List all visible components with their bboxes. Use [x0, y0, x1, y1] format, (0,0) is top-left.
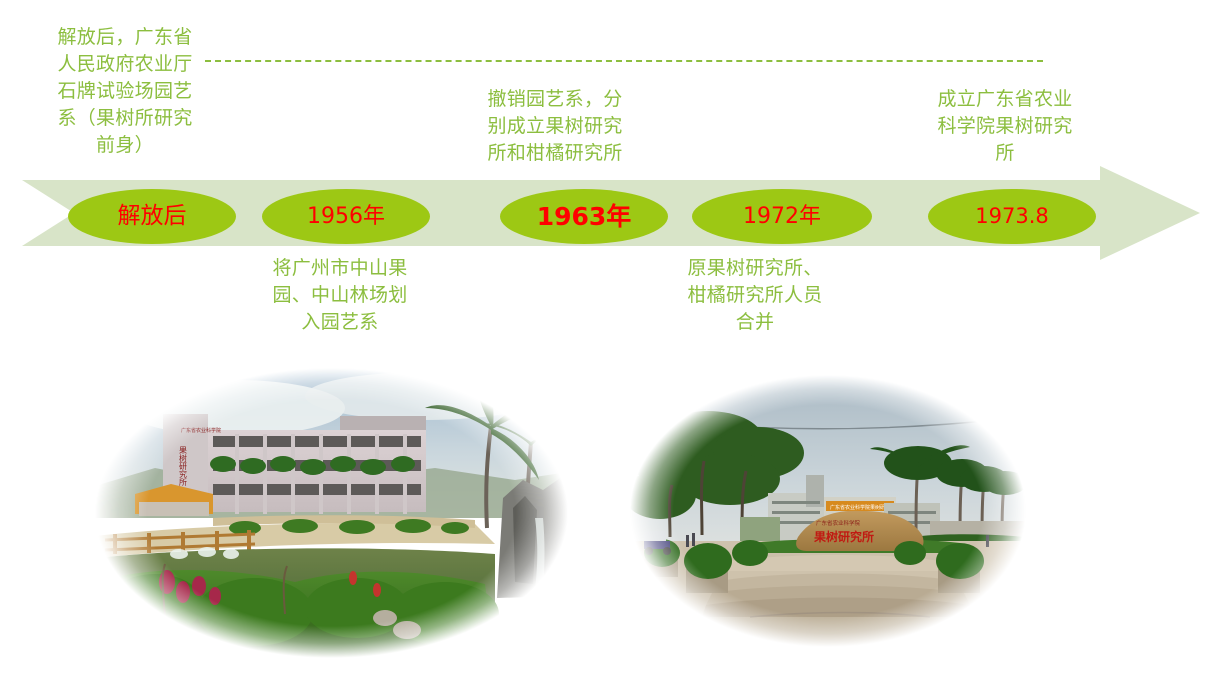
svg-text:广东省农业科学院: 广东省农业科学院 [816, 519, 861, 527]
timeline-note-above-3: 成立广东省农业 科学院果树研究 所 [905, 86, 1105, 167]
dashed-connector-line [205, 60, 1043, 62]
milestone-label-3: 1963年 [537, 204, 632, 229]
timeline-note-below-2: 原果树研究所、 柑橘研究所人员 合并 [655, 255, 855, 336]
svg-text:果树研究所: 果树研究所 [179, 446, 188, 487]
milestone-label-5: 1973.8 [975, 206, 1048, 227]
timeline-note-above-1: 解放后，广东省 人民政府农业厅 石牌试验场园艺 系（果树所研究 前身） [22, 24, 228, 159]
svg-text:果树研究所: 果树研究所 [813, 529, 874, 544]
milestone-label-1: 解放后 [118, 205, 187, 228]
milestone-label-2: 1956年 [307, 206, 385, 228]
timeline-note-above-2: 撤销园艺系，分 别成立果树研究 所和柑橘研究所 [455, 86, 655, 167]
milestone-pill-5[interactable]: 1973.8 [928, 189, 1096, 244]
institute-entrance-monument-photo: 广东省农业科学院果树研究所 [630, 375, 1026, 647]
milestone-pill-3[interactable]: 1963年 [500, 189, 668, 244]
timeline-note-below-1: 将广州市中山果 园、中山林场划 入园艺系 [240, 255, 440, 336]
milestone-label-4: 1972年 [743, 206, 821, 228]
milestone-pill-2[interactable]: 1956年 [262, 189, 430, 244]
institute-building-pond-photo: 广东省农业科学院 果树研究所 [95, 368, 568, 658]
milestone-pill-4[interactable]: 1972年 [692, 189, 872, 244]
svg-text:广东省农业科学院: 广东省农业科学院 [181, 427, 221, 434]
milestone-pill-1[interactable]: 解放后 [68, 189, 236, 244]
